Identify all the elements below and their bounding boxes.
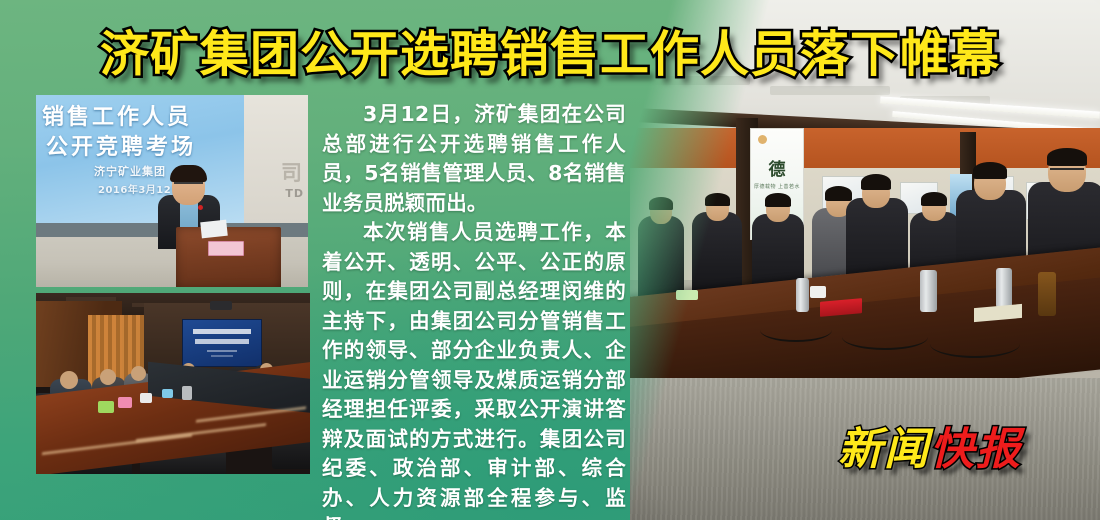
desk-item xyxy=(162,389,173,398)
banner-seal-icon xyxy=(758,135,767,144)
screen-text-line-3 xyxy=(207,350,237,352)
panel-member-hair xyxy=(973,162,1007,179)
panel-member-hair xyxy=(861,174,891,190)
screen-text-line-2 xyxy=(195,339,249,344)
panel-member-hair xyxy=(765,193,791,207)
desk-item xyxy=(140,393,152,403)
photo-conference-room xyxy=(36,293,310,474)
thermos xyxy=(920,270,937,312)
panel-member-hair xyxy=(649,197,673,210)
panel-member-hair xyxy=(825,186,852,201)
ceiling-projector xyxy=(210,301,232,310)
screen-line-1: 销售工作人员 xyxy=(42,99,192,131)
screen-line-3: 济宁矿业集团 xyxy=(94,163,166,179)
panel-member-hair xyxy=(921,192,947,206)
news-poster: 济矿集团公开选聘销售工作人员落下帷幕 司 TD 销售工作人员 公开竞聘考场 济宁… xyxy=(0,0,1100,520)
attendee-head xyxy=(131,366,146,381)
attendee-head xyxy=(60,371,78,389)
thermos xyxy=(182,386,192,400)
microphone-cable xyxy=(842,324,928,350)
thermos xyxy=(796,278,809,312)
thermos xyxy=(996,268,1012,308)
screen-line-4: 2016年3月12日 xyxy=(98,181,182,196)
badge-part-red: 快报 xyxy=(930,424,1022,475)
room-projection-screen xyxy=(182,319,262,367)
screen-text-line-4 xyxy=(211,355,233,357)
microphone-cable xyxy=(930,330,1020,358)
banner-character: 德 xyxy=(751,155,803,180)
desk-item xyxy=(676,290,698,300)
banner-subtext: 厚德载物 上善若水 xyxy=(751,183,803,190)
speaker-papers xyxy=(200,220,228,239)
tea-bottle xyxy=(1038,272,1056,316)
panel-member-hair xyxy=(705,193,730,206)
news-flash-badge: 新闻快报 xyxy=(838,428,1022,472)
speaker-lapel-badge xyxy=(198,205,203,210)
wall-logo-char: 司 xyxy=(281,157,302,187)
desk-item xyxy=(98,401,114,413)
screen-line-2: 公开竞聘考场 xyxy=(46,129,196,161)
article-paragraph-1: 3月12日，济矿集团在公司总部进行公开选聘销售工作人员，5名销售管理人员、8名销… xyxy=(322,100,626,218)
article-paragraph-2: 本次销售人员选聘工作，本着公开、透明、公平、公正的原则，在集团公司副总经理闵维的… xyxy=(322,218,626,520)
attendee-head xyxy=(100,369,116,385)
photo-speaker-at-podium: 司 TD 销售工作人员 公开竞聘考场 济宁矿业集团 2016年3月12日 xyxy=(36,95,308,287)
article-body: 3月12日，济矿集团在公司总部进行公开选聘销售工作人员，5名销售管理人员、8名销… xyxy=(322,100,626,520)
screen-text-line-1 xyxy=(193,329,251,334)
paper-cup xyxy=(810,286,826,298)
panel-member-hair xyxy=(1047,148,1087,166)
speaker-hair xyxy=(170,165,207,182)
speaker-glasses xyxy=(174,182,203,190)
wall-logo-sub: TD xyxy=(285,187,304,200)
desk-item xyxy=(118,397,132,408)
page-title: 济矿集团公开选聘销售工作人员落下帷幕 xyxy=(100,30,1000,79)
podium-plaque xyxy=(208,241,244,256)
panel-member-glasses xyxy=(1050,168,1084,177)
podium xyxy=(176,227,281,287)
title-banner: 济矿集团公开选聘销售工作人员落下帷幕 xyxy=(0,18,1100,90)
wall-upper-band xyxy=(630,128,1100,170)
badge-part-yellow: 新闻 xyxy=(838,424,930,475)
microphone-cable xyxy=(760,318,832,342)
